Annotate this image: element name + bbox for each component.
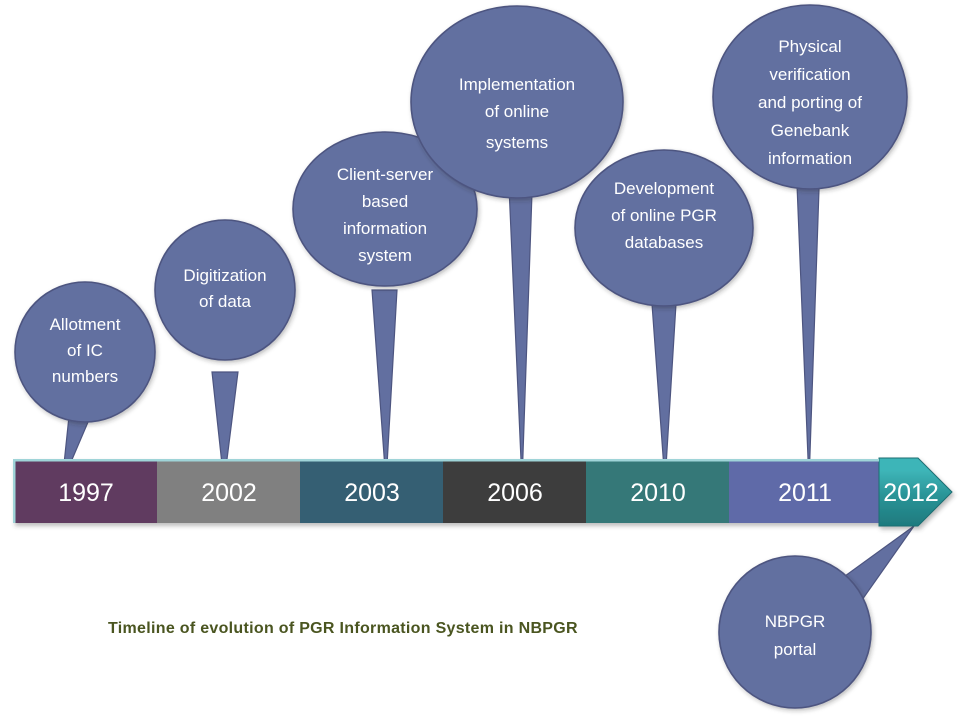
callout-2010-line-1: Development — [614, 179, 714, 198]
year-label-2002: 2002 — [201, 479, 257, 507]
year-label-2006: 2006 — [487, 479, 543, 507]
callout-2010[interactable]: Development of online PGR databases — [575, 150, 753, 306]
year-label-2011: 2011 — [778, 479, 832, 507]
callout-2003-line-3: information — [343, 219, 427, 238]
callout-2002-bubble — [155, 220, 295, 360]
callout-2002-line-2: of data — [199, 292, 252, 311]
callout-1997-line-2: of IC — [67, 341, 103, 360]
callout-2006-line-1: Implementation — [459, 75, 575, 94]
callout-2012[interactable]: NBPGR portal — [719, 556, 871, 708]
callout-2011-line-5: information — [768, 149, 852, 168]
tail-2003 — [372, 290, 397, 483]
callout-2011-line-2: verification — [769, 65, 850, 84]
tail-2010 — [652, 304, 676, 483]
callout-2006[interactable]: Implementation of online systems — [411, 6, 623, 198]
callout-2011[interactable]: Physical verification and porting of Gen… — [713, 5, 907, 189]
callout-2010-line-2: of online PGR — [611, 206, 717, 225]
callout-2010-line-3: databases — [625, 233, 703, 252]
diagram-canvas: 1997 2002 2003 2006 2010 2011 2012 Allot… — [0, 0, 960, 720]
tail-2006 — [508, 164, 533, 483]
callout-2012-line-2: portal — [774, 640, 817, 659]
callout-2006-line-2: of online — [485, 102, 549, 121]
callout-2003-line-4: system — [358, 246, 412, 265]
timeline-bar-left-highlight — [13, 459, 16, 523]
timeline-diagram: 1997 2002 2003 2006 2010 2011 2012 Allot… — [0, 0, 960, 720]
callout-1997-line-3: numbers — [52, 367, 118, 386]
year-label-1997: 1997 — [58, 479, 114, 507]
year-label-2012: 2012 — [883, 479, 939, 507]
callout-tails — [62, 160, 914, 600]
callout-1997[interactable]: Allotment of IC numbers — [15, 282, 155, 422]
callout-2006-line-3: systems — [486, 133, 548, 152]
callout-2003-line-1: Client-server — [337, 165, 434, 184]
callout-2011-line-3: and porting of — [758, 93, 862, 112]
callout-2002[interactable]: Digitization of data — [155, 220, 295, 360]
callout-2003-line-2: based — [362, 192, 408, 211]
callout-2010-bubble — [575, 150, 753, 306]
callout-2011-line-1: Physical — [778, 37, 841, 56]
callout-2002-line-1: Digitization — [183, 266, 266, 285]
tail-2011 — [796, 160, 820, 483]
year-label-2003: 2003 — [344, 479, 400, 507]
diagram-caption: Timeline of evolution of PGR Information… — [108, 620, 578, 637]
callout-2012-line-1: NBPGR — [765, 612, 825, 631]
callout-2011-line-4: Genebank — [771, 121, 850, 140]
callout-1997-line-1: Allotment — [50, 315, 121, 334]
callout-2012-bubble — [719, 556, 871, 708]
timeline-bar-top-highlight — [14, 459, 879, 462]
year-label-2010: 2010 — [630, 479, 686, 507]
